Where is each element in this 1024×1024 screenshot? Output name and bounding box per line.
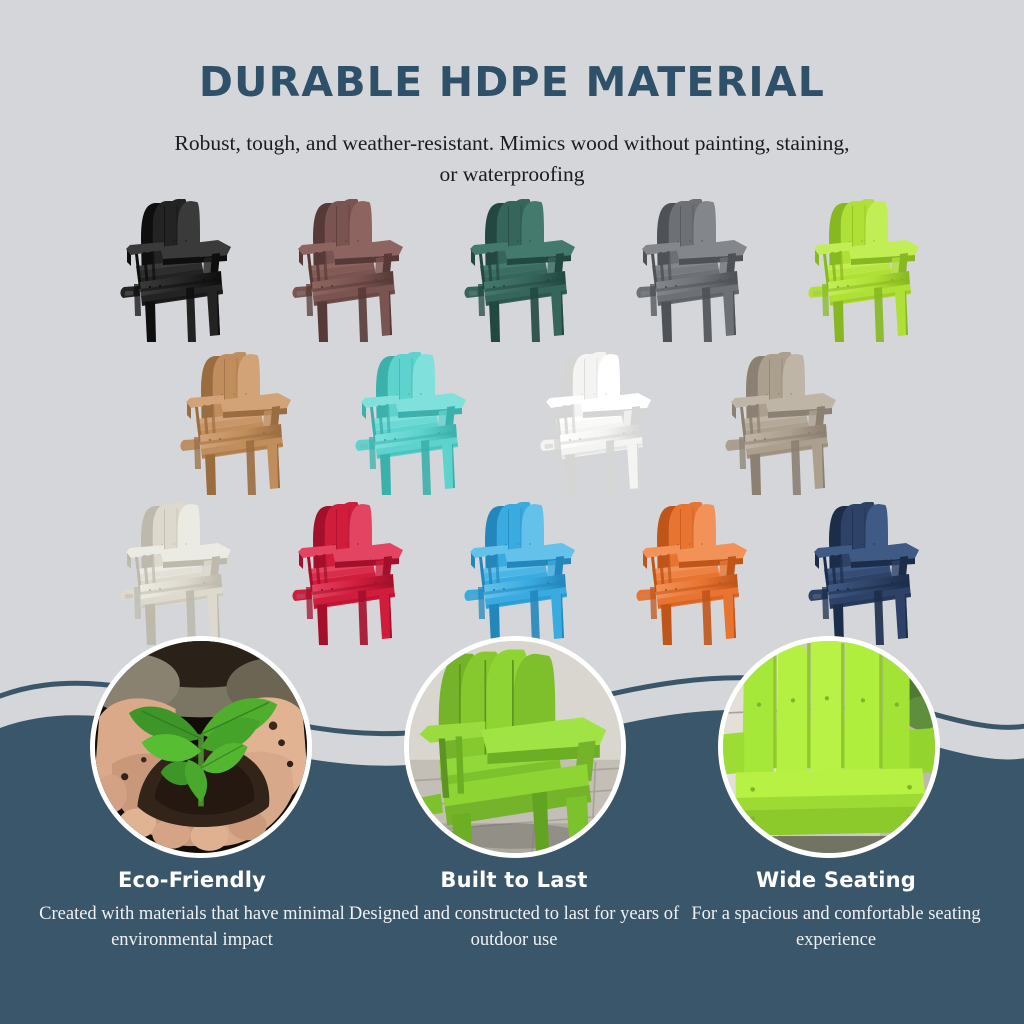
caption-body-eco-friendly: Created with materials that have minimal… (22, 901, 362, 953)
chair-row-3 (0, 495, 1024, 645)
chair-row-1 (0, 192, 1024, 342)
chair-illustration-white (520, 345, 670, 495)
chair-dark-green[interactable] (444, 192, 594, 342)
chair-gray[interactable] (616, 192, 766, 342)
chair-illustration-ivory (100, 495, 250, 645)
caption-body-built-to-last: Designed and constructed to last for yea… (344, 901, 684, 953)
lime-green-adirondack-chair-on-patio-image (409, 641, 621, 853)
chair-orange[interactable] (616, 495, 766, 645)
badge-wide-seating[interactable] (718, 636, 940, 858)
badge-eco-friendly[interactable] (90, 636, 312, 858)
chair-sky-blue[interactable] (444, 495, 594, 645)
caption-title-built-to-last: Built to Last (344, 868, 684, 892)
caption-title-eco-friendly: Eco-Friendly (22, 868, 362, 892)
chair-teak[interactable] (160, 345, 310, 495)
infographic-page: DURABLE HDPE MATERIAL Robust, tough, and… (0, 0, 1024, 1024)
chair-turquoise[interactable] (335, 345, 485, 495)
caption-wide-seating: Wide SeatingFor a spacious and comfortab… (666, 868, 1006, 953)
feature-caption-row: Eco-FriendlyCreated with materials that … (0, 868, 1024, 988)
chair-ivory[interactable] (100, 495, 250, 645)
caption-eco-friendly: Eco-FriendlyCreated with materials that … (22, 868, 362, 953)
chair-illustration-brown (272, 192, 422, 342)
chair-illustration-orange (616, 495, 766, 645)
chair-illustration-gray (616, 192, 766, 342)
chair-illustration-turquoise (335, 345, 485, 495)
chair-illustration-lime-green (788, 192, 938, 342)
hands-holding-seedling-in-soil-image (95, 641, 307, 853)
chair-illustration-teak (160, 345, 310, 495)
chair-brown[interactable] (272, 192, 422, 342)
badge-built-to-last[interactable] (404, 636, 626, 858)
chair-illustration-dark-green (444, 192, 594, 342)
chair-illustration-weathered-taupe (705, 345, 855, 495)
page-title: DURABLE HDPE MATERIAL (0, 58, 1024, 106)
chair-illustration-red (272, 495, 422, 645)
chair-illustration-navy-blue (788, 495, 938, 645)
caption-built-to-last: Built to LastDesigned and constructed to… (344, 868, 684, 953)
closeup-of-lime-green-chair-wide-seat-image (723, 641, 935, 853)
chair-row-2 (0, 345, 1024, 495)
caption-body-wide-seating: For a spacious and comfortable seating e… (666, 901, 1006, 953)
feature-badge-row (0, 636, 1024, 868)
header: DURABLE HDPE MATERIAL Robust, tough, and… (0, 0, 1024, 190)
chair-black[interactable] (100, 192, 250, 342)
chair-illustration-sky-blue (444, 495, 594, 645)
caption-title-wide-seating: Wide Seating (666, 868, 1006, 892)
chair-navy-blue[interactable] (788, 495, 938, 645)
chair-illustration-black (100, 192, 250, 342)
chair-weathered-taupe[interactable] (705, 345, 855, 495)
chair-red[interactable] (272, 495, 422, 645)
chair-white[interactable] (520, 345, 670, 495)
page-subtitle: Robust, tough, and weather-resistant. Mi… (0, 128, 1024, 190)
chair-lime-green[interactable] (788, 192, 938, 342)
